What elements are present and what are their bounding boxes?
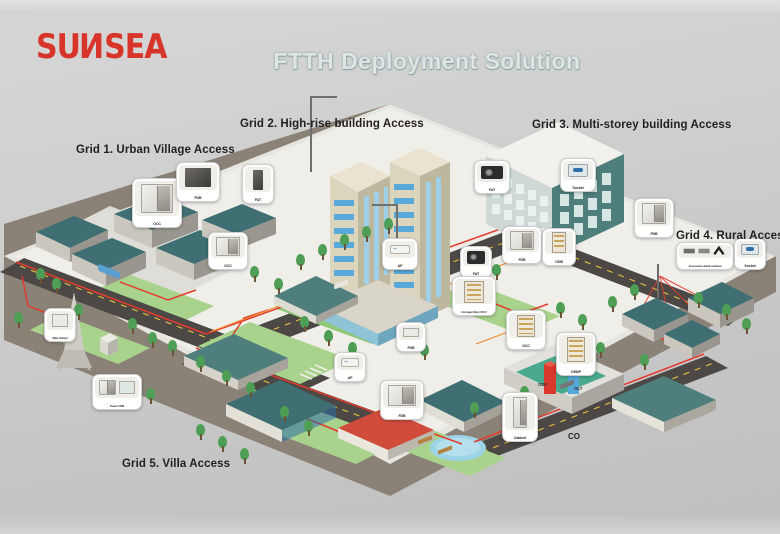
callout-caption: ODB xyxy=(543,260,575,265)
callout-caption: FAT xyxy=(243,198,273,203)
callout-occ-co[interactable]: OCC xyxy=(506,310,546,350)
grid-label-1: Grid 1. Urban Village Access xyxy=(76,144,235,156)
cabinet-image xyxy=(505,395,535,430)
occ-image xyxy=(509,313,543,338)
diagram-canvas: SUNSEA FTTH Deployment Solution FTTH Dep… xyxy=(0,0,780,534)
callout-caption: OCC xyxy=(209,264,247,269)
callout-caption: Socket xyxy=(561,186,595,191)
callout-odb-multistorey[interactable]: ODB xyxy=(542,228,576,266)
callout-fat-village[interactable]: FAT xyxy=(242,164,274,204)
occ-image xyxy=(211,235,245,258)
callout-caption: AP xyxy=(383,264,417,269)
callout-caption: Mini Jacket xyxy=(45,336,75,341)
callout-caption: AP xyxy=(335,376,365,381)
callout-caption: Cabinet xyxy=(503,436,537,441)
callout-fdb-villa[interactable]: FDB xyxy=(380,380,424,420)
fdb-image xyxy=(383,383,421,408)
socket-image xyxy=(563,161,593,180)
callout-occ-village[interactable]: OCC xyxy=(132,178,182,228)
callout-caption: FDB xyxy=(635,232,673,237)
omdf-image xyxy=(559,335,593,364)
callout-occ-road[interactable]: OCC xyxy=(208,232,248,270)
sunsea-logo: SUNSEA xyxy=(36,28,166,67)
street-lamp xyxy=(311,96,337,98)
callout-caption: FDB xyxy=(381,414,423,419)
odb-image xyxy=(545,231,573,254)
callout-fdb-village[interactable]: FDB xyxy=(176,162,220,202)
callout-accessories-rural[interactable]: Accessories Aerial overhead xyxy=(676,242,734,270)
callout-tower-fdb[interactable]: Tower FDB xyxy=(92,374,142,410)
callout-caption: OMDF xyxy=(557,370,595,375)
callout-omdf[interactable]: OMDF xyxy=(556,332,596,376)
callout-caption: Tower FDB xyxy=(93,404,141,409)
fat-image xyxy=(463,249,489,266)
fdb-image xyxy=(179,165,217,190)
callout-mini-jacket[interactable]: Mini Jacket xyxy=(44,308,76,342)
callout-caption: Socket xyxy=(735,264,765,269)
grid-label-3: Grid 3. Multi-storey building Access xyxy=(532,119,731,131)
street-lamp xyxy=(372,204,398,206)
callout-caption: FDB xyxy=(397,346,425,351)
socket-image xyxy=(737,241,763,258)
fdb-image xyxy=(399,325,423,340)
callout-socket-rural[interactable]: Socket xyxy=(734,238,766,270)
callout-cabinet[interactable]: Cabinet xyxy=(502,392,538,442)
occ-cabinet-image xyxy=(135,181,179,216)
callout-caption: Accessories Aerial overhead xyxy=(677,264,733,269)
fat-image xyxy=(477,163,507,182)
mini-jacket-image xyxy=(47,311,73,330)
callout-caption: FAT xyxy=(475,188,509,193)
fat-image xyxy=(245,167,271,192)
grid-label-4: Grid 4. Rural Access xyxy=(676,230,780,242)
callout-fdb-multistorey[interactable]: FDB xyxy=(502,226,542,264)
callout-caption: OCC xyxy=(133,222,181,227)
label-olt: OLT xyxy=(574,386,582,391)
callout-ap-highrise[interactable]: AP xyxy=(382,238,418,270)
street-equipment-left xyxy=(96,330,122,365)
utility-pole-rural xyxy=(657,264,659,298)
tower-fdb-image xyxy=(95,377,139,398)
callout-caption: FDB xyxy=(177,196,219,201)
callout-caption: Compact Box OCC xyxy=(453,310,495,315)
page-title: FTTH Deployment Solution xyxy=(262,48,592,75)
label-odf: ODF xyxy=(538,382,547,387)
grid-label-2: Grid 2. High-rise building Access xyxy=(240,118,424,130)
callout-socket-multistorey[interactable]: Socket xyxy=(560,158,596,192)
grid-label-5: Grid 5. Villa Access xyxy=(122,458,230,470)
callout-fat-multistorey[interactable]: FAT xyxy=(474,160,510,194)
logo-text: SUNSEA xyxy=(36,28,166,67)
callout-fdb-highrise[interactable]: FDB xyxy=(396,322,426,352)
accessories-image xyxy=(679,245,731,258)
fdb-image xyxy=(505,229,539,252)
fdb-image xyxy=(637,201,671,226)
callout-ap-villa[interactable]: AP xyxy=(334,352,366,382)
callout-fdb-rural[interactable]: FDB xyxy=(634,198,674,238)
street-lamp xyxy=(310,96,312,172)
callout-compact-box-occ[interactable]: Compact Box OCC xyxy=(452,276,496,316)
ap-image xyxy=(385,241,415,258)
callout-caption: OCC xyxy=(507,344,545,349)
ap-image xyxy=(337,355,363,370)
callout-caption: FDB xyxy=(503,258,541,263)
compact-box-occ-image xyxy=(455,279,493,304)
callout-fat-highrise[interactable]: FAT xyxy=(460,246,492,278)
label-co: CO xyxy=(568,432,580,441)
